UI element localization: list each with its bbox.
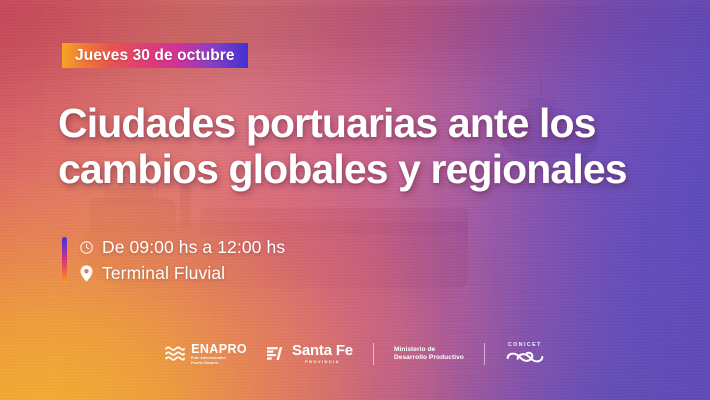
title-line-1: Ciudades portuarias ante los <box>58 100 658 146</box>
ministerio-text: Ministerio de Desarrollo Productivo <box>394 346 464 363</box>
schedule-text: De 09:00 hs a 12:00 hs <box>102 237 285 258</box>
location-pin-icon <box>78 265 94 283</box>
location-text: Terminal Fluvial <box>102 263 225 284</box>
clock-icon <box>78 239 94 257</box>
santa-fe-subtitle: PROVINCIA <box>305 358 340 365</box>
detail-rows: De 09:00 hs a 12:00 hs Terminal Fluvial <box>78 237 285 284</box>
logo-santa-fe: Santa Fe PROVINCIA <box>267 343 353 365</box>
enapro-subtitle-2: Puerto Rosario <box>191 361 247 365</box>
ministerio-line-1: Ministerio de <box>394 346 464 354</box>
title-line-2: cambios globales y regionales <box>58 146 658 192</box>
conicet-name: CONICET <box>508 342 542 349</box>
date-badge: Jueves 30 de octubre <box>62 43 248 68</box>
logo-enapro: ENAPRO Ente Administrador Puerto Rosario <box>165 343 247 365</box>
waves-icon <box>165 345 185 363</box>
santa-fe-bars-icon <box>267 346 286 362</box>
logo-divider-2 <box>484 343 485 365</box>
logo-divider-1 <box>373 343 374 365</box>
partner-logos: ENAPRO Ente Administrador Puerto Rosario… <box>0 342 710 366</box>
schedule-row: De 09:00 hs a 12:00 hs <box>78 237 285 258</box>
location-row: Terminal Fluvial <box>78 263 285 284</box>
logo-ministerio: Ministerio de Desarrollo Productivo <box>394 346 464 363</box>
page-title: Ciudades portuarias ante los cambios glo… <box>58 100 658 192</box>
conicet-infinity-icon <box>505 349 545 366</box>
banner-content: Jueves 30 de octubre Ciudades portuarias… <box>0 0 710 400</box>
event-details: De 09:00 hs a 12:00 hs Terminal Fluvial <box>62 237 285 284</box>
gradient-accent-bar <box>62 237 67 284</box>
santa-fe-name: Santa Fe <box>292 343 353 358</box>
enapro-text: ENAPRO Ente Administrador Puerto Rosario <box>191 343 247 365</box>
event-banner: Jueves 30 de octubre Ciudades portuarias… <box>0 0 710 400</box>
ministerio-line-2: Desarrollo Productivo <box>394 354 464 362</box>
enapro-name: ENAPRO <box>191 343 247 356</box>
santa-fe-text: Santa Fe PROVINCIA <box>292 343 353 365</box>
logo-conicet: CONICET <box>505 342 545 366</box>
